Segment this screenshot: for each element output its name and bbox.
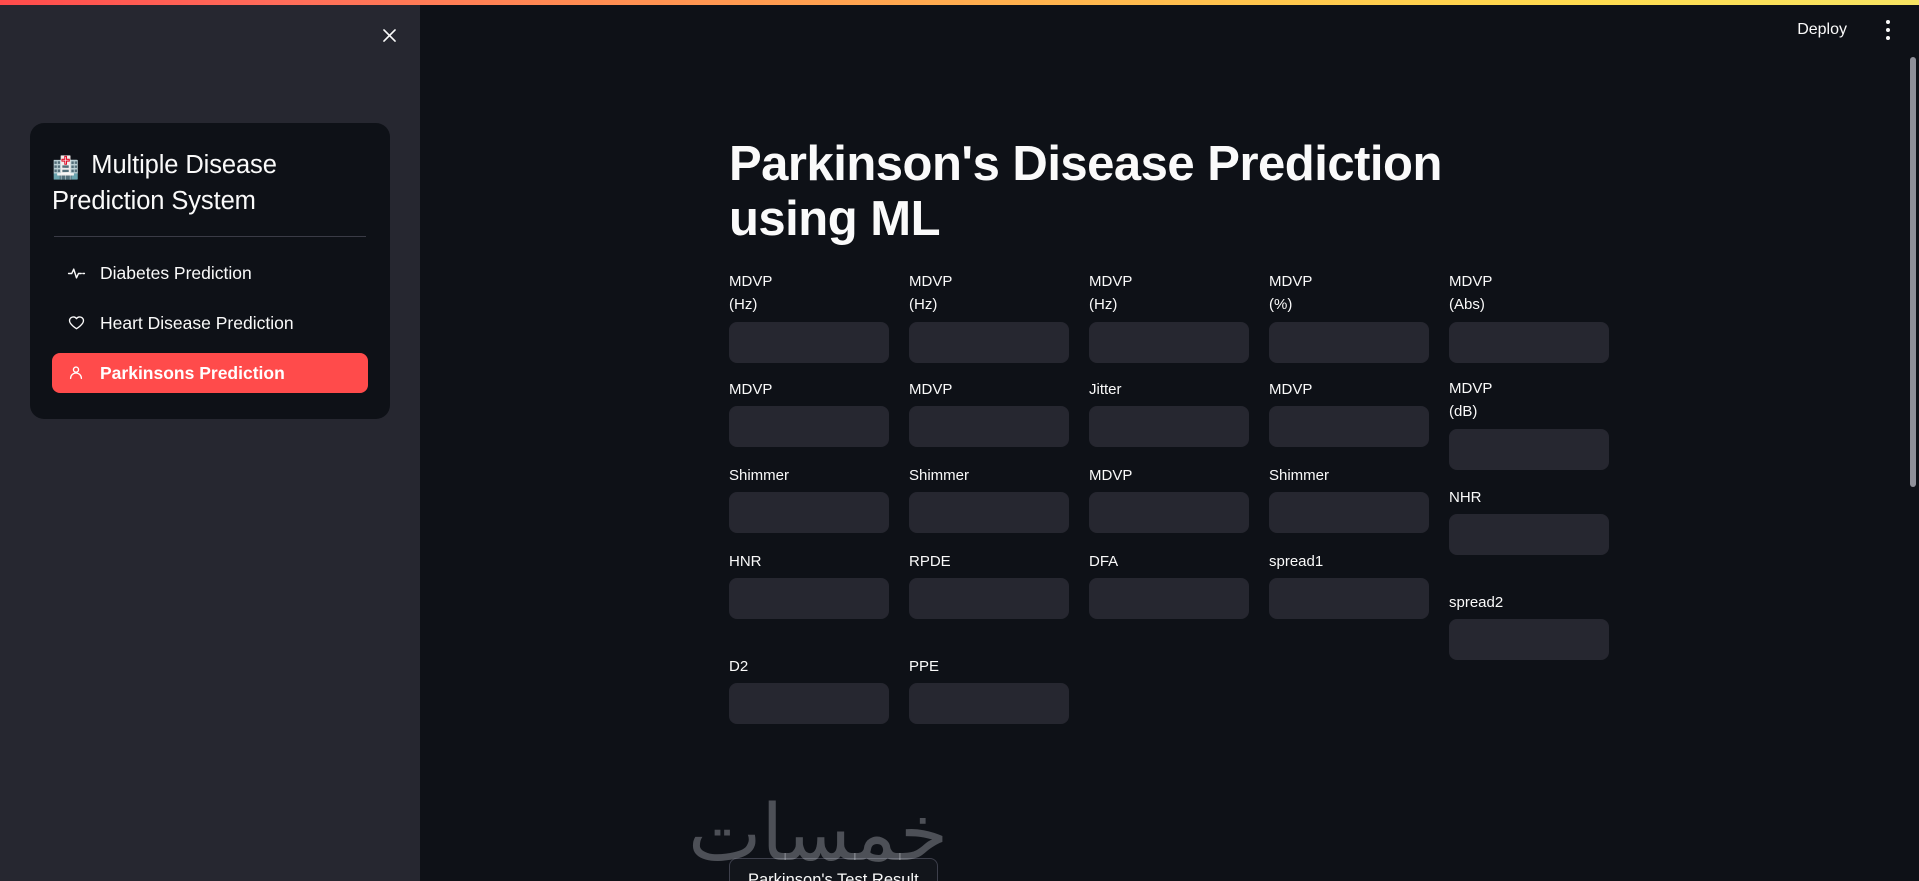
field-label: MDVP (Hz) bbox=[1089, 270, 1249, 317]
field-input[interactable] bbox=[909, 322, 1069, 363]
sidebar-item-label: Parkinsons Prediction bbox=[100, 365, 285, 383]
field-label: MDVP bbox=[1269, 378, 1429, 401]
field-group: Shimmer bbox=[1269, 464, 1429, 533]
field-label: MDVP (%) bbox=[1269, 270, 1429, 317]
field-label: NHR bbox=[1449, 486, 1609, 509]
sidebar-item-label: Diabetes Prediction bbox=[100, 265, 252, 283]
field-label: Jitter bbox=[1089, 378, 1249, 401]
page-title: Parkinson's Disease Prediction using ML bbox=[729, 137, 1489, 247]
field-input[interactable] bbox=[1089, 406, 1249, 447]
field-group: MDVP (Hz) bbox=[1089, 270, 1249, 363]
field-input[interactable] bbox=[729, 406, 889, 447]
field-label: PPE bbox=[909, 655, 1069, 678]
top-toolbar: Deploy bbox=[1619, 5, 1919, 55]
sidebar-item-heart-disease[interactable]: Heart Disease Prediction bbox=[52, 303, 368, 343]
field-group: Shimmer bbox=[729, 464, 889, 533]
close-icon[interactable] bbox=[372, 18, 406, 52]
sidebar-item-parkinsons[interactable]: Parkinsons Prediction bbox=[52, 353, 368, 393]
field-group: Shimmer bbox=[909, 464, 1069, 533]
kebab-dot bbox=[1886, 36, 1890, 40]
main-menu-icon[interactable] bbox=[1871, 13, 1905, 47]
parkinsons-test-result-button[interactable]: Parkinson's Test Result bbox=[729, 858, 938, 881]
field-input[interactable] bbox=[909, 578, 1069, 619]
field-group: Jitter bbox=[1089, 378, 1249, 447]
sidebar: 🏥Multiple Disease Prediction System Diab… bbox=[0, 0, 420, 881]
field-group: DFA bbox=[1089, 550, 1249, 619]
field-input[interactable] bbox=[729, 492, 889, 533]
sidebar-item-diabetes[interactable]: Diabetes Prediction bbox=[52, 253, 368, 293]
field-input[interactable] bbox=[1449, 322, 1609, 363]
field-label: MDVP (Abs) bbox=[1449, 270, 1609, 317]
field-label: HNR bbox=[729, 550, 889, 573]
field-group: NHR bbox=[1449, 486, 1609, 555]
field-input[interactable] bbox=[909, 683, 1069, 724]
field-input[interactable] bbox=[909, 406, 1069, 447]
field-label: MDVP bbox=[909, 378, 1069, 401]
field-group: MDVP bbox=[909, 378, 1069, 447]
field-group: MDVP (Hz) bbox=[909, 270, 1069, 363]
field-label: D2 bbox=[729, 655, 889, 678]
field-label: Shimmer bbox=[909, 464, 1069, 487]
field-label: spread2 bbox=[1449, 591, 1609, 614]
field-group: MDVP (Abs) bbox=[1449, 270, 1609, 363]
field-label: MDVP (Hz) bbox=[729, 270, 889, 317]
activity-icon bbox=[66, 263, 86, 283]
field-group: D2 bbox=[729, 655, 889, 724]
field-group: MDVP bbox=[729, 378, 889, 447]
heart-icon bbox=[66, 313, 86, 333]
field-group: MDVP (Hz) bbox=[729, 270, 889, 363]
field-input[interactable] bbox=[1269, 406, 1429, 447]
main-inner: Parkinson's Disease Prediction using ML … bbox=[420, 5, 1919, 881]
app-title-text: Multiple Disease Prediction System bbox=[52, 151, 277, 215]
field-input[interactable] bbox=[1089, 492, 1249, 533]
field-input[interactable] bbox=[1269, 492, 1429, 533]
field-label: Shimmer bbox=[729, 464, 889, 487]
field-input[interactable] bbox=[1449, 514, 1609, 555]
person-icon bbox=[66, 363, 86, 383]
field-input[interactable] bbox=[909, 492, 1069, 533]
field-label: DFA bbox=[1089, 550, 1249, 573]
field-label: MDVP bbox=[729, 378, 889, 401]
deploy-button[interactable]: Deploy bbox=[1787, 15, 1857, 45]
field-group: RPDE bbox=[909, 550, 1069, 619]
field-input[interactable] bbox=[1449, 429, 1609, 470]
field-group: PPE bbox=[909, 655, 1069, 724]
field-input[interactable] bbox=[729, 683, 889, 724]
field-group: MDVP (%) bbox=[1269, 270, 1429, 363]
divider bbox=[54, 236, 366, 237]
field-group: MDVP bbox=[1269, 378, 1429, 447]
field-input[interactable] bbox=[1089, 578, 1249, 619]
vertical-scrollbar-thumb[interactable] bbox=[1910, 57, 1916, 487]
field-input[interactable] bbox=[1269, 322, 1429, 363]
navigation-card: 🏥Multiple Disease Prediction System Diab… bbox=[30, 123, 390, 419]
sidebar-item-label: Heart Disease Prediction bbox=[100, 315, 294, 333]
kebab-dot bbox=[1886, 20, 1890, 24]
field-input[interactable] bbox=[1089, 322, 1249, 363]
vertical-scrollbar-track[interactable] bbox=[1906, 5, 1919, 881]
field-label: spread1 bbox=[1269, 550, 1429, 573]
field-group: spread1 bbox=[1269, 550, 1429, 619]
app-root: 🏥Multiple Disease Prediction System Diab… bbox=[0, 0, 1919, 881]
field-input[interactable] bbox=[729, 578, 889, 619]
field-group: MDVP bbox=[1089, 464, 1249, 533]
app-title: 🏥Multiple Disease Prediction System bbox=[52, 147, 368, 219]
field-input[interactable] bbox=[1269, 578, 1429, 619]
kebab-dot bbox=[1886, 28, 1890, 32]
field-group: HNR bbox=[729, 550, 889, 619]
field-input[interactable] bbox=[729, 322, 889, 363]
field-label: MDVP (Hz) bbox=[909, 270, 1069, 317]
field-group: MDVP (dB) bbox=[1449, 377, 1609, 470]
field-label: Shimmer bbox=[1269, 464, 1429, 487]
main-content: Parkinson's Disease Prediction using ML … bbox=[420, 5, 1919, 881]
field-label: RPDE bbox=[909, 550, 1069, 573]
top-gradient-bar bbox=[0, 0, 1919, 5]
field-label: MDVP bbox=[1089, 464, 1249, 487]
hospital-icon: 🏥 bbox=[52, 157, 79, 179]
field-label: MDVP (dB) bbox=[1449, 377, 1609, 424]
field-group: spread2 bbox=[1449, 591, 1609, 660]
field-input[interactable] bbox=[1449, 619, 1609, 660]
